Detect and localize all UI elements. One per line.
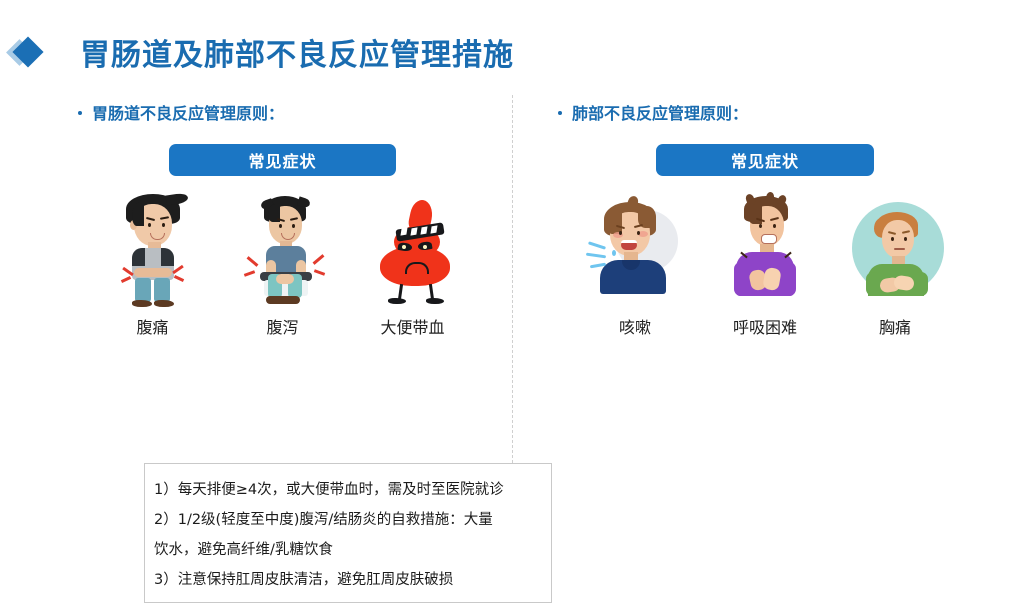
note-line: 3）注意保持肛周皮肤清洁，避免肛周皮肤破损 (154, 565, 542, 595)
symptom-item: 呼吸困难 (703, 188, 827, 338)
page-title: 胃肠道及肺部不良反应管理措施 (80, 30, 514, 74)
left-heading-label: 胃肠道不良反应管理原则： (92, 100, 284, 124)
column-divider (512, 95, 513, 518)
left-badge-label: 常见症状 (248, 148, 316, 172)
symptom-item: 咳嗽 (573, 188, 697, 338)
symptom-item: 胸痛 (833, 188, 957, 338)
symptom-item: 大便带血 (351, 188, 475, 338)
bullet-dot-icon (78, 111, 82, 115)
title-row: 胃肠道及肺部不良反应管理措施 (0, 14, 1034, 66)
left-symptom-row: 腹痛 (60, 188, 505, 338)
slide-canvas: 胃肠道及肺部不良反应管理措施 胃肠道不良反应管理原则： 常见症状 (0, 0, 1034, 518)
bloody-stool-icon (354, 188, 472, 308)
right-symptom-row: 咳嗽 (540, 188, 990, 338)
diarrhea-toilet-icon (224, 188, 342, 308)
diamond-icon (10, 38, 46, 70)
right-column-heading: 肺部不良反应管理原则： (540, 100, 990, 124)
gastrointestinal-column: 胃肠道不良反应管理原则： 常见症状 (60, 100, 505, 338)
note-line: 1）每天排便≥4次，或大便带血时，需及时至医院就诊 (154, 475, 542, 505)
gastrointestinal-notes-box: 1）每天排便≥4次，或大便带血时，需及时至医院就诊 2）1/2级(轻度至中度)腹… (144, 463, 552, 603)
abdominal-pain-icon (94, 188, 212, 308)
left-column-heading: 胃肠道不良反应管理原则： (60, 100, 505, 124)
bullet-dot-icon (558, 111, 562, 115)
symptom-item: 腹痛 (91, 188, 215, 338)
note-line: 饮水，避免高纤维/乳糖饮食 (154, 535, 542, 565)
symptom-item: 腹泻 (221, 188, 345, 338)
right-common-symptoms-badge: 常见症状 (656, 144, 874, 176)
cough-icon (576, 188, 694, 308)
symptom-label: 胸痛 (879, 314, 911, 338)
pulmonary-column: 肺部不良反应管理原则： 常见症状 (540, 100, 990, 338)
right-heading-label: 肺部不良反应管理原则： (572, 100, 748, 124)
dyspnea-icon (706, 188, 824, 308)
symptom-label: 大便带血 (380, 314, 444, 338)
left-common-symptoms-badge: 常见症状 (169, 144, 396, 176)
symptom-label: 咳嗽 (619, 314, 651, 338)
chest-pain-icon (836, 188, 954, 308)
note-line: 2）1/2级(轻度至中度)腹泻/结肠炎的自救措施：大量 (154, 505, 542, 535)
symptom-label: 腹痛 (136, 314, 168, 338)
symptom-label: 腹泻 (266, 314, 298, 338)
symptom-label: 呼吸困难 (733, 314, 797, 338)
right-badge-label: 常见症状 (731, 148, 799, 172)
